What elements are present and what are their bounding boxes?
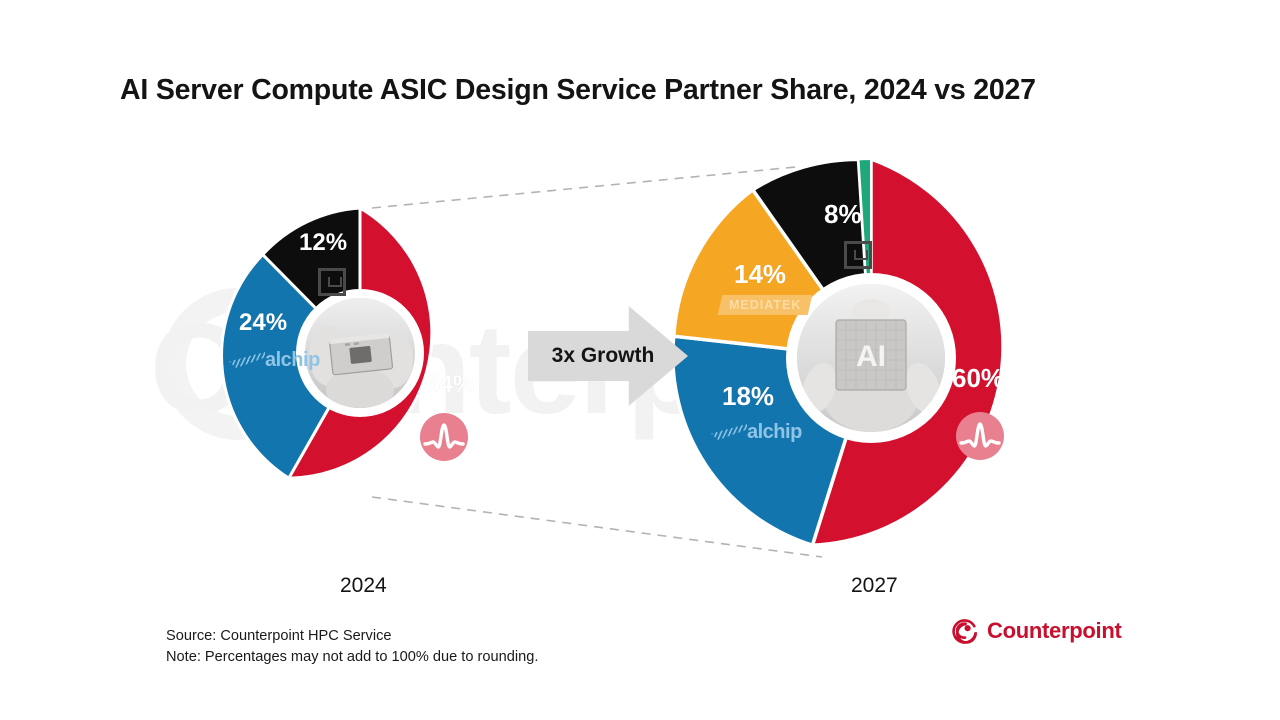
footer-notes: Source: Counterpoint HPC Service Note: P… — [166, 626, 538, 668]
label-2024-alchip: 24% — [239, 309, 287, 337]
label-2027-mediatek: 14% — [734, 259, 786, 290]
year-label-2027: 2027 — [851, 574, 898, 598]
label-2027-marvell: 8% — [824, 199, 862, 230]
donut-chart-2027: AI 60% 18% 14% 8% alchip MEDIATEK — [672, 159, 1070, 557]
label-2024-marvell: 12% — [299, 229, 347, 257]
label-2027-broadcom: 60% — [952, 363, 1004, 394]
year-label-2024: 2024 — [340, 574, 387, 598]
growth-label: 3x Growth — [528, 341, 678, 371]
donut-chart-2024: 64% 24% 12% alchip — [215, 208, 505, 498]
note-text: Note: Percentages may not add to 100% du… — [166, 647, 538, 668]
chart-title: AI Server Compute ASIC Design Service Pa… — [120, 74, 1180, 107]
label-2024-broadcom: 64% — [426, 371, 474, 399]
center-image-2027: AI — [797, 284, 945, 432]
label-2027-alchip: 18% — [722, 381, 774, 412]
ai-chip-label: AI — [856, 340, 886, 373]
chart-canvas: Counterpoint AI Server Compute ASIC Desi… — [0, 0, 1280, 720]
center-image-2024 — [305, 298, 415, 408]
source-text: Source: Counterpoint HPC Service — [166, 626, 538, 647]
counterpoint-logo-text: Counterpoint — [987, 618, 1121, 644]
counterpoint-logo: Counterpoint — [952, 618, 1121, 644]
counterpoint-swirl-icon — [952, 618, 978, 644]
